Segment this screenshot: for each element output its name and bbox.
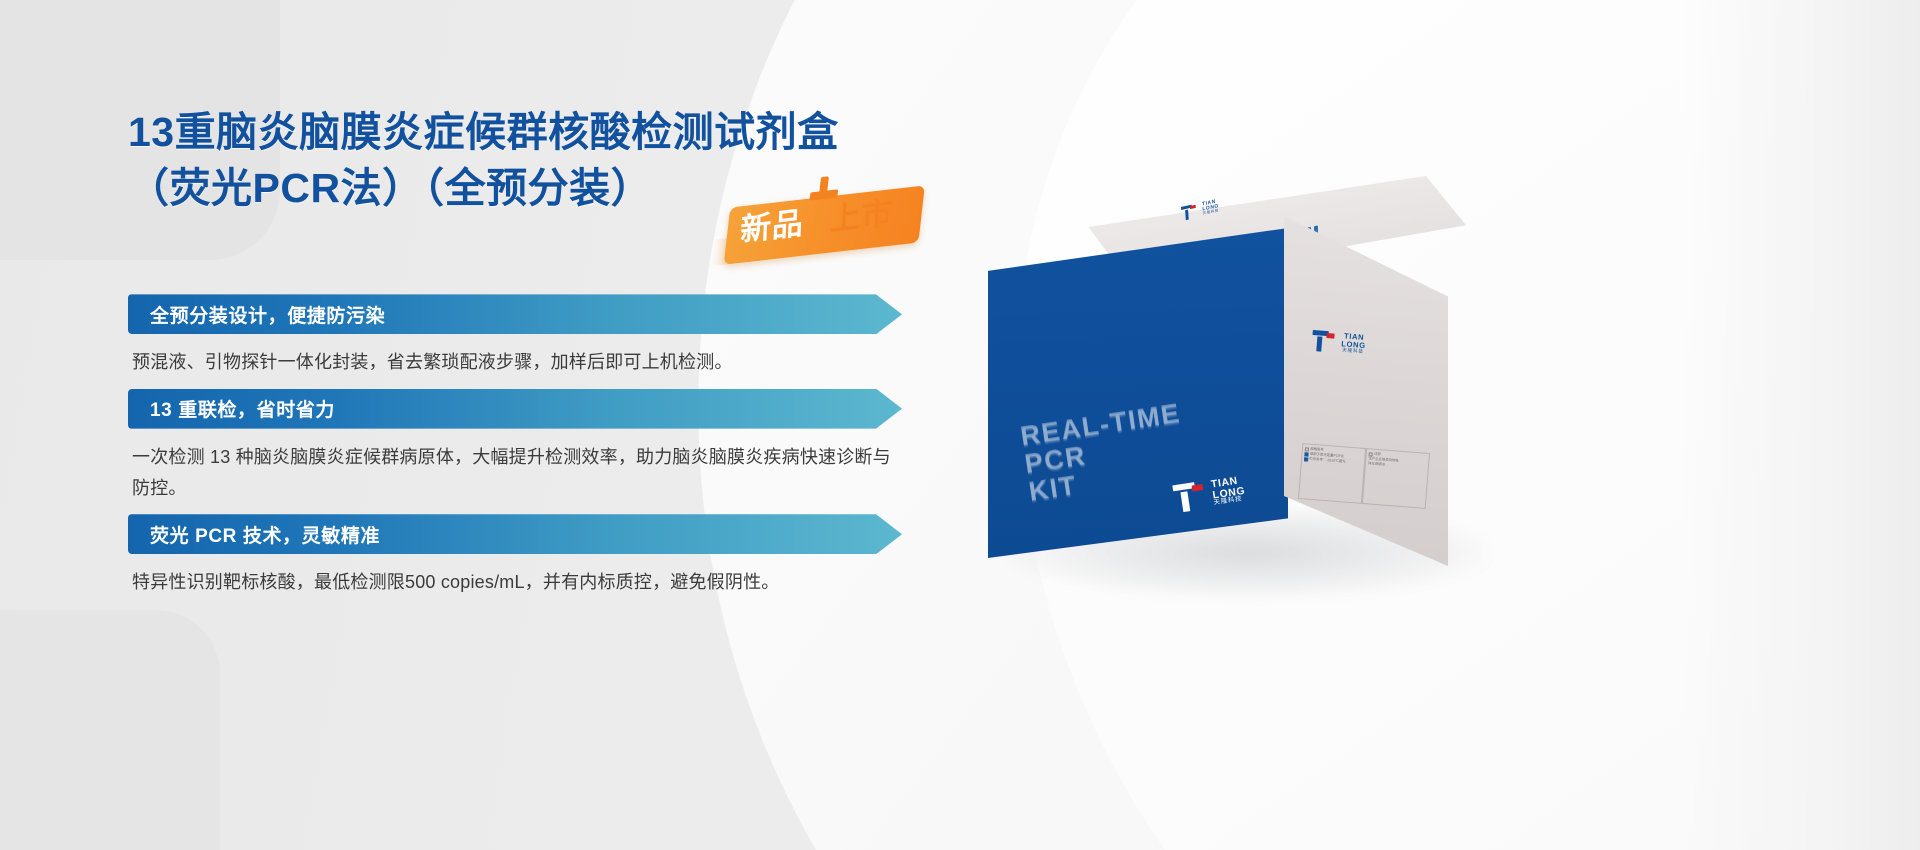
- brand-chinese: 天隆科技: [1341, 348, 1366, 355]
- spec-icon: [1305, 447, 1309, 451]
- feature-bar-1: 全预分装设计，便捷防污染: [128, 294, 902, 334]
- feature-bar-3: 荧光 PCR 技术，灵敏精准: [128, 514, 902, 554]
- brand-chinese: 天隆科技: [1214, 496, 1247, 507]
- box-front-face: REAL-TIME PCR KIT TIAN LONG 天隆科技: [988, 228, 1288, 558]
- tianlong-logo-text: TIAN LONG 天隆科技: [1202, 199, 1219, 216]
- side-panel-column-2: 注册 生产企业信息及地址 详见说明书: [1362, 448, 1430, 509]
- feature-bar-2: 13 重联检，省时省力: [128, 389, 902, 429]
- feature-item: 荧光 PCR 技术，灵敏精准 特异性识别靶标核酸，最低检测限500 copies…: [128, 514, 948, 598]
- feature-description-1: 预混液、引物探针一体化封装，省去繁琐配液步骤，加样后即可上机检测。: [128, 347, 898, 378]
- tianlong-logo-text: TIAN LONG 天隆科技: [1210, 475, 1247, 507]
- tianlong-logo-mark: [1181, 204, 1197, 221]
- storage-icon: [1304, 457, 1308, 461]
- background-corner-bottom-left: [0, 610, 220, 850]
- box-side-info-panel: 规格型号 适用于荧光定量PCR仪 贮存条件：-20±5℃避光 注册: [1298, 443, 1430, 509]
- title-line-1: 13重脑炎脑膜炎症候群核酸检测试剂盒: [128, 104, 948, 160]
- tianlong-logo-mark: [1172, 481, 1206, 513]
- feature-description-3: 特异性识别靶标核酸，最低检测限500 copies/mL，并有内标质控，避免假阴…: [128, 567, 898, 598]
- instrument-icon: [1304, 452, 1308, 456]
- tianlong-logo-text: TIAN LONG 天隆科技: [1341, 333, 1367, 355]
- box-side-logo: TIAN LONG 天隆科技: [1311, 330, 1366, 355]
- box-front-wordmark: REAL-TIME PCR KIT: [1019, 399, 1191, 506]
- feature-label-2: 13 重联检，省时省力: [128, 395, 335, 422]
- feature-item: 全预分装设计，便捷防污染 预混液、引物探针一体化封装，省去繁琐配液步骤，加样后即…: [128, 294, 948, 378]
- side-col2-line2: 详见说明书: [1368, 461, 1385, 467]
- product-box-image: TIAN LONG 天隆科技 REAL-TIME PCR KIT: [966, 176, 1566, 606]
- page-title: 13重脑炎脑膜炎症候群核酸检测试剂盒 （荧光PCR法）（全预分装） 新品 上市: [128, 104, 948, 216]
- side-panel-column-1: 规格型号 适用于荧光定量PCR仪 贮存条件：-20±5℃避光: [1298, 443, 1366, 504]
- tianlong-logo-mark: [1311, 330, 1335, 353]
- badge-right-text: 上市: [829, 197, 894, 236]
- background-right-edge: [1680, 0, 1920, 850]
- feature-description-2: 一次检测 13 种脑炎脑膜炎症候群病原体，大幅提升检测效率，助力脑炎脑膜炎疾病快…: [128, 442, 898, 505]
- banner-stage: 13重脑炎脑膜炎症候群核酸检测试剂盒 （荧光PCR法）（全预分装） 新品 上市 …: [0, 0, 1920, 850]
- feature-list: 全预分装设计，便捷防污染 预混液、引物探针一体化封装，省去繁琐配液步骤，加样后即…: [128, 294, 948, 598]
- feature-item: 13 重联检，省时省力 一次检测 13 种脑炎脑膜炎症候群病原体，大幅提升检测效…: [128, 389, 948, 505]
- tianlong-logo-side: TIAN LONG 天隆科技: [1311, 330, 1366, 355]
- tianlong-logo-top: TIAN LONG 天隆科技: [1181, 197, 1220, 223]
- box-top-logo: TIAN LONG 天隆科技: [1181, 197, 1220, 223]
- feature-label-3: 荧光 PCR 技术，灵敏精准: [128, 521, 380, 548]
- brand-chinese: 天隆科技: [1203, 209, 1220, 216]
- content-column: 13重脑炎脑膜炎症候群核酸检测试剂盒 （荧光PCR法）（全预分装） 新品 上市 …: [128, 104, 948, 609]
- feature-label-1: 全预分装设计，便捷防污染: [128, 301, 385, 328]
